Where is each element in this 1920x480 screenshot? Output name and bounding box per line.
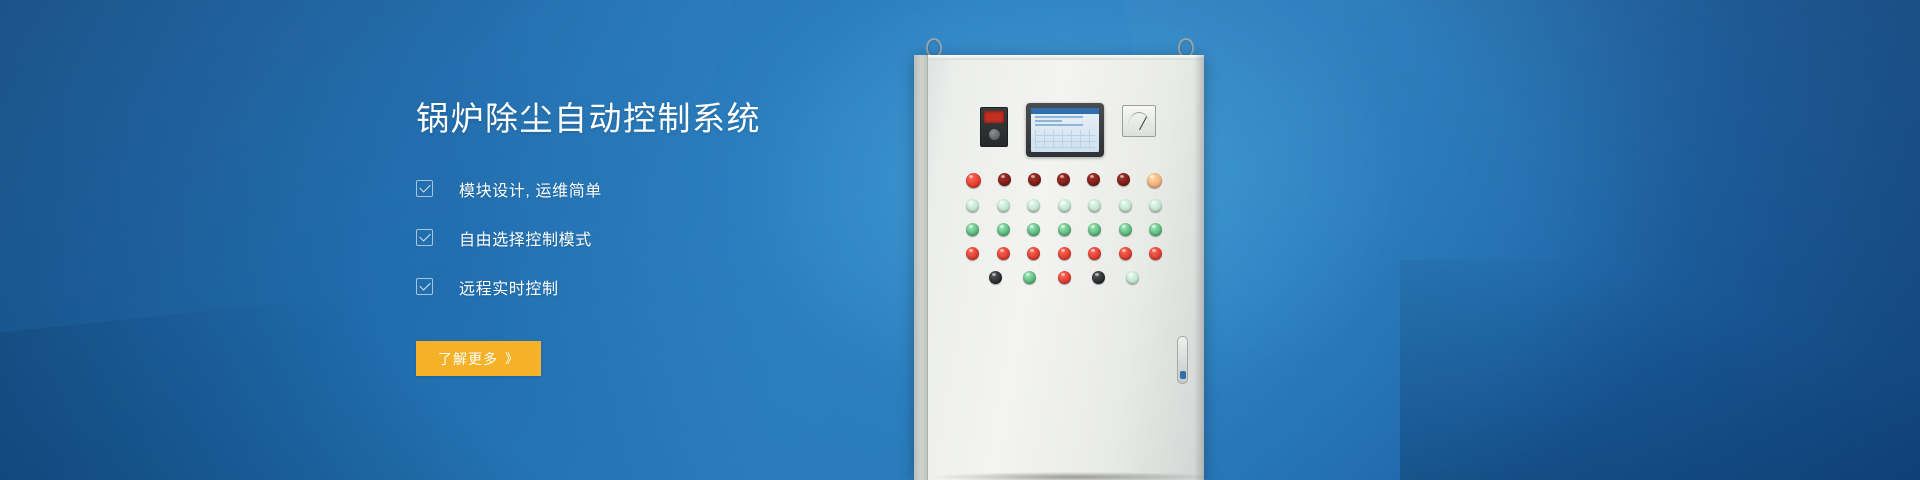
lamp-row: [966, 173, 1162, 188]
indicator-lamp-green[interactable]: [997, 223, 1010, 236]
indicator-lamp-green[interactable]: [1088, 223, 1101, 236]
hero-banner: 锅炉除尘自动控制系统 模块设计, 运维简单 自由选择控制模式 远程实时控制 了解…: [0, 0, 1920, 480]
cabinet-right-edge: [1194, 55, 1204, 480]
background-facet-lower-right: [1400, 260, 1920, 480]
control-cabinet: [914, 55, 1204, 480]
indicator-lamp-darkred[interactable]: [1028, 173, 1041, 186]
list-item: 自由选择控制模式: [416, 221, 976, 254]
meter-scale-arc: [1128, 112, 1150, 126]
indicator-lamp-darkred[interactable]: [998, 173, 1011, 186]
indicator-lamp-red[interactable]: [966, 173, 981, 188]
indicator-lamp-green[interactable]: [1027, 223, 1040, 236]
list-item: 远程实时控制: [416, 270, 976, 303]
indicator-lamp-palegreen[interactable]: [1119, 199, 1132, 212]
check-box-icon: [416, 278, 433, 295]
indicator-lamp-palegreen[interactable]: [997, 199, 1010, 212]
indicator-lamp-green[interactable]: [1058, 223, 1071, 236]
touch-screen-hmi: [1026, 103, 1104, 157]
indicator-lamp-red[interactable]: [997, 247, 1010, 260]
feature-list: 模块设计, 运维简单 自由选择控制模式 远程实时控制: [416, 172, 976, 303]
hmi-titlebar: [1031, 108, 1099, 114]
push-button-palegreen[interactable]: [1126, 271, 1139, 284]
indicator-lamp-palegreen[interactable]: [1088, 199, 1101, 212]
push-button-black[interactable]: [1092, 271, 1105, 284]
check-box-icon: [416, 229, 433, 246]
controller-display: [984, 111, 1004, 123]
analog-panel-meter: [1122, 105, 1156, 137]
indicator-lamp-green[interactable]: [1149, 223, 1162, 236]
indicator-lamp-green[interactable]: [966, 223, 979, 236]
cabinet-top-bevel: [914, 55, 1204, 60]
list-item: 模块设计, 运维简单: [416, 172, 976, 205]
lamp-row: [966, 199, 1162, 212]
indicator-lamp-red[interactable]: [1088, 247, 1101, 260]
door-handle[interactable]: [1177, 336, 1188, 384]
hmi-text-line: [1035, 116, 1083, 118]
indicator-lamp-red[interactable]: [1058, 247, 1071, 260]
lock-icon: [1180, 371, 1186, 379]
lamp-row-buttons: [989, 271, 1139, 284]
indicator-lamp-darkred[interactable]: [1057, 173, 1070, 186]
indicator-lamp-red[interactable]: [966, 247, 979, 260]
banner-content: 锅炉除尘自动控制系统 模块设计, 运维简单 自由选择控制模式 远程实时控制 了解…: [416, 98, 976, 376]
indicator-lamp-darkred[interactable]: [1087, 173, 1100, 186]
push-button-black[interactable]: [989, 271, 1002, 284]
page-title: 锅炉除尘自动控制系统: [416, 98, 976, 139]
hmi-screen: [1031, 108, 1099, 152]
indicator-lamp-red[interactable]: [1149, 247, 1162, 260]
learn-more-label: 了解更多: [438, 349, 498, 369]
indicator-lamp-palegreen[interactable]: [1149, 199, 1162, 212]
indicator-lamp-palegreen[interactable]: [1058, 199, 1071, 212]
chevron-right-icon: 》: [505, 352, 519, 365]
indicator-lamp-grid: [966, 173, 1162, 284]
list-item-label: 远程实时控制: [459, 275, 559, 299]
hmi-text-line: [1035, 124, 1083, 126]
hmi-data-grid: [1035, 130, 1095, 148]
indicator-lamp-palegreen[interactable]: [966, 199, 979, 212]
controller-knob-icon: [988, 128, 1001, 141]
learn-more-button[interactable]: 了解更多 》: [416, 341, 541, 376]
cabinet-hinge-strip: [914, 55, 928, 480]
digital-temperature-controller: [980, 107, 1008, 147]
push-button-red[interactable]: [1058, 271, 1071, 284]
indicator-lamp-red[interactable]: [1119, 247, 1132, 260]
list-item-label: 模块设计, 运维简单: [459, 177, 602, 201]
indicator-lamp-palegreen[interactable]: [1027, 199, 1040, 212]
product-image: [900, 0, 1240, 480]
cabinet-shadow: [934, 472, 1214, 480]
indicator-lamp-red[interactable]: [1027, 247, 1040, 260]
indicator-lamp-darkred[interactable]: [1117, 173, 1130, 186]
check-box-icon: [416, 180, 433, 197]
indicator-lamp-amber[interactable]: [1147, 173, 1162, 188]
indicator-lamp-green[interactable]: [1119, 223, 1132, 236]
lamp-row: [966, 223, 1162, 236]
lamp-row: [966, 247, 1162, 260]
list-item-label: 自由选择控制模式: [459, 226, 592, 250]
push-button-green[interactable]: [1023, 271, 1036, 284]
hmi-text-line: [1035, 120, 1062, 122]
